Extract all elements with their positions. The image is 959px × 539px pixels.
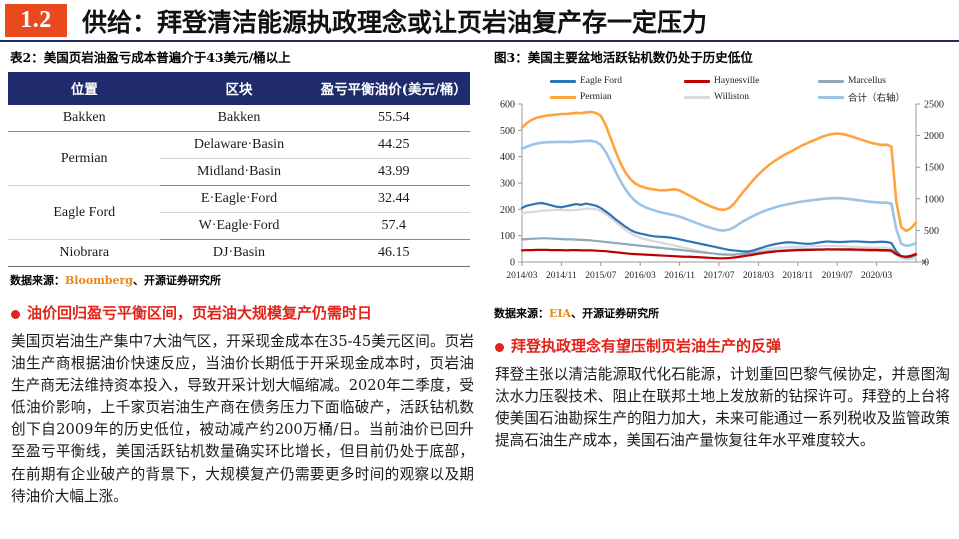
breakeven-cost-table: 位置 区块 盈亏平衡油价(美元/桶） Bakken Bakken 55.54 P… [8, 72, 470, 267]
left-bullet-title: 油价回归盈亏平衡区间，页岩油大规模复产仍需时日 [27, 304, 372, 324]
left-body-text: 美国页岩油生产集中7大油气区，开采现金成本在35-45美元区间。页岩油生产商根据… [11, 331, 474, 508]
cell-block: Bakken [160, 105, 317, 132]
table-row: Niobrara DJ·Basin 46.15 [8, 240, 470, 267]
right-bullet-heading: 拜登执政理念有望压制页岩油生产的反弹 [495, 337, 954, 357]
chart-plot-area: 0100200300400500600050010001500200025002… [492, 100, 954, 300]
legend-swatch-icon [550, 96, 576, 99]
cell-location: Niobrara [8, 240, 160, 267]
table-caption: 表2：美国页岩油盈亏成本普遍介于43美元/桶以上 [10, 47, 478, 66]
x-axis-tick-label: 2015/07 [585, 271, 616, 281]
section-number-badge: 1.2 [5, 4, 67, 37]
x-axis-tick-label: 2020/03 [861, 271, 892, 281]
y-axis-tick-label: 400 [500, 152, 515, 163]
chart-series-line [522, 141, 916, 246]
y-axis-tick-label: 100 [500, 231, 515, 242]
cell-location: Permian [8, 132, 160, 186]
legend-item: Eagle Ford [550, 74, 680, 88]
y2-axis-tick-label: 500 [924, 226, 939, 237]
x-axis-tick-label: 2016/03 [625, 271, 656, 281]
cell-location: Bakken [8, 105, 160, 132]
cell-price: 55.54 [318, 105, 470, 132]
y-axis-tick-label: 300 [500, 179, 515, 190]
left-column: 表2：美国页岩油盈亏成本普遍介于43美元/桶以上 位置 区块 盈亏平衡油价(美元… [8, 47, 478, 527]
cell-location: Eagle Ford [8, 186, 160, 240]
rig-count-chart: Eagle FordHaynesvilleMarcellusPermianWil… [492, 72, 954, 300]
x-axis-tick-label: 2018/11 [782, 271, 813, 281]
legend-label: Haynesville [714, 76, 759, 86]
chart-series-line [522, 209, 916, 260]
section-number-label: 1.2 [20, 7, 52, 34]
cell-price: 32.44 [318, 186, 470, 213]
x-axis-tick-label: 2017/07 [703, 271, 734, 281]
legend-label: Marcellus [848, 76, 886, 86]
x-axis-tick-label: 2019/07 [822, 271, 853, 281]
cell-block: Midland·Basin [160, 159, 317, 186]
y2-axis-tick-label: 2500 [924, 100, 944, 111]
table-row: Permian Delaware·Basin 44.25 [8, 132, 470, 159]
legend-item: Haynesville [684, 74, 814, 88]
source-value: EIA [549, 307, 571, 320]
source-value: Bloomberg [65, 274, 133, 287]
y2-axis-tick-label: 2000 [924, 131, 944, 142]
cell-block: E·Eagle·Ford [160, 186, 317, 213]
right-column: 图3：美国主要盆地活跃钻机数仍处于历史低位 Eagle FordHaynesvi… [492, 47, 954, 527]
x-axis-tick-label: 2014/11 [546, 271, 577, 281]
table-col-price: 盈亏平衡油价(美元/桶） [318, 72, 470, 105]
cell-block: Delaware·Basin [160, 132, 317, 159]
legend-label: Eagle Ford [580, 76, 622, 86]
cell-price: 43.99 [318, 159, 470, 186]
legend-swatch-icon [684, 96, 710, 99]
legend-swatch-icon [818, 80, 844, 83]
title-divider [0, 40, 959, 42]
table-col-location: 位置 [8, 72, 160, 105]
left-bullet-heading: 油价回归盈亏平衡区间，页岩油大规模复产仍需时日 [11, 304, 478, 324]
y2-axis-tick-label: 0 [924, 258, 929, 269]
bullet-dot-icon [495, 343, 504, 352]
y-axis-tick-label: 500 [500, 126, 515, 137]
right-bullet-title: 拜登执政理念有望压制页岩油生产的反弹 [511, 337, 781, 357]
table-row: Eagle Ford E·Eagle·Ford 32.44 [8, 186, 470, 213]
page-title: 供给：拜登清洁能源执政理念或让页岩油复产存一定压力 [82, 3, 707, 39]
source-label: 数据来源： [10, 274, 65, 287]
y2-axis-tick-label: 1000 [924, 194, 944, 205]
x-axis-tick-label: 2018/03 [743, 271, 774, 281]
chart-caption: 图3：美国主要盆地活跃钻机数仍处于历史低位 [494, 47, 954, 66]
table-header-row: 位置 区块 盈亏平衡油价(美元/桶） [8, 72, 470, 105]
table-row: Bakken Bakken 55.54 [8, 105, 470, 132]
right-body-text: 拜登主张以清洁能源取代化石能源，计划重回巴黎气候协定，并意图淘汰水力压裂技术、阻… [495, 364, 950, 453]
source-tail: 、开源证券研究所 [571, 307, 659, 320]
cell-block: DJ·Basin [160, 240, 317, 267]
y-axis-tick-label: 600 [500, 100, 515, 111]
cell-price: 44.25 [318, 132, 470, 159]
y2-axis-tick-label: 1500 [924, 163, 944, 174]
table-source-note: 数据来源：Bloomberg、开源证券研究所 [10, 272, 478, 288]
chart-source-note: 数据来源：EIA、开源证券研究所 [494, 305, 954, 321]
x-axis-tick-label: 2016/11 [664, 271, 695, 281]
x-axis-tick-label: 2014/03 [506, 271, 537, 281]
legend-item: Marcellus [818, 74, 948, 88]
source-label: 数据来源： [494, 307, 549, 320]
cell-price: 57.4 [318, 213, 470, 240]
table-col-block: 区块 [160, 72, 317, 105]
page-header: 1.2 供给：拜登清洁能源执政理念或让页岩油复产存一定压力 [0, 0, 959, 40]
legend-swatch-icon [550, 80, 576, 83]
y-axis-tick-label: 200 [500, 205, 515, 216]
legend-swatch-icon [818, 96, 844, 99]
chart-series-line [522, 112, 916, 231]
y-axis-tick-label: 0 [510, 258, 515, 269]
legend-swatch-icon [684, 80, 710, 83]
bullet-dot-icon [11, 310, 20, 319]
cell-price: 46.15 [318, 240, 470, 267]
source-tail: 、开源证券研究所 [133, 274, 221, 287]
cell-block: W·Eagle·Ford [160, 213, 317, 240]
